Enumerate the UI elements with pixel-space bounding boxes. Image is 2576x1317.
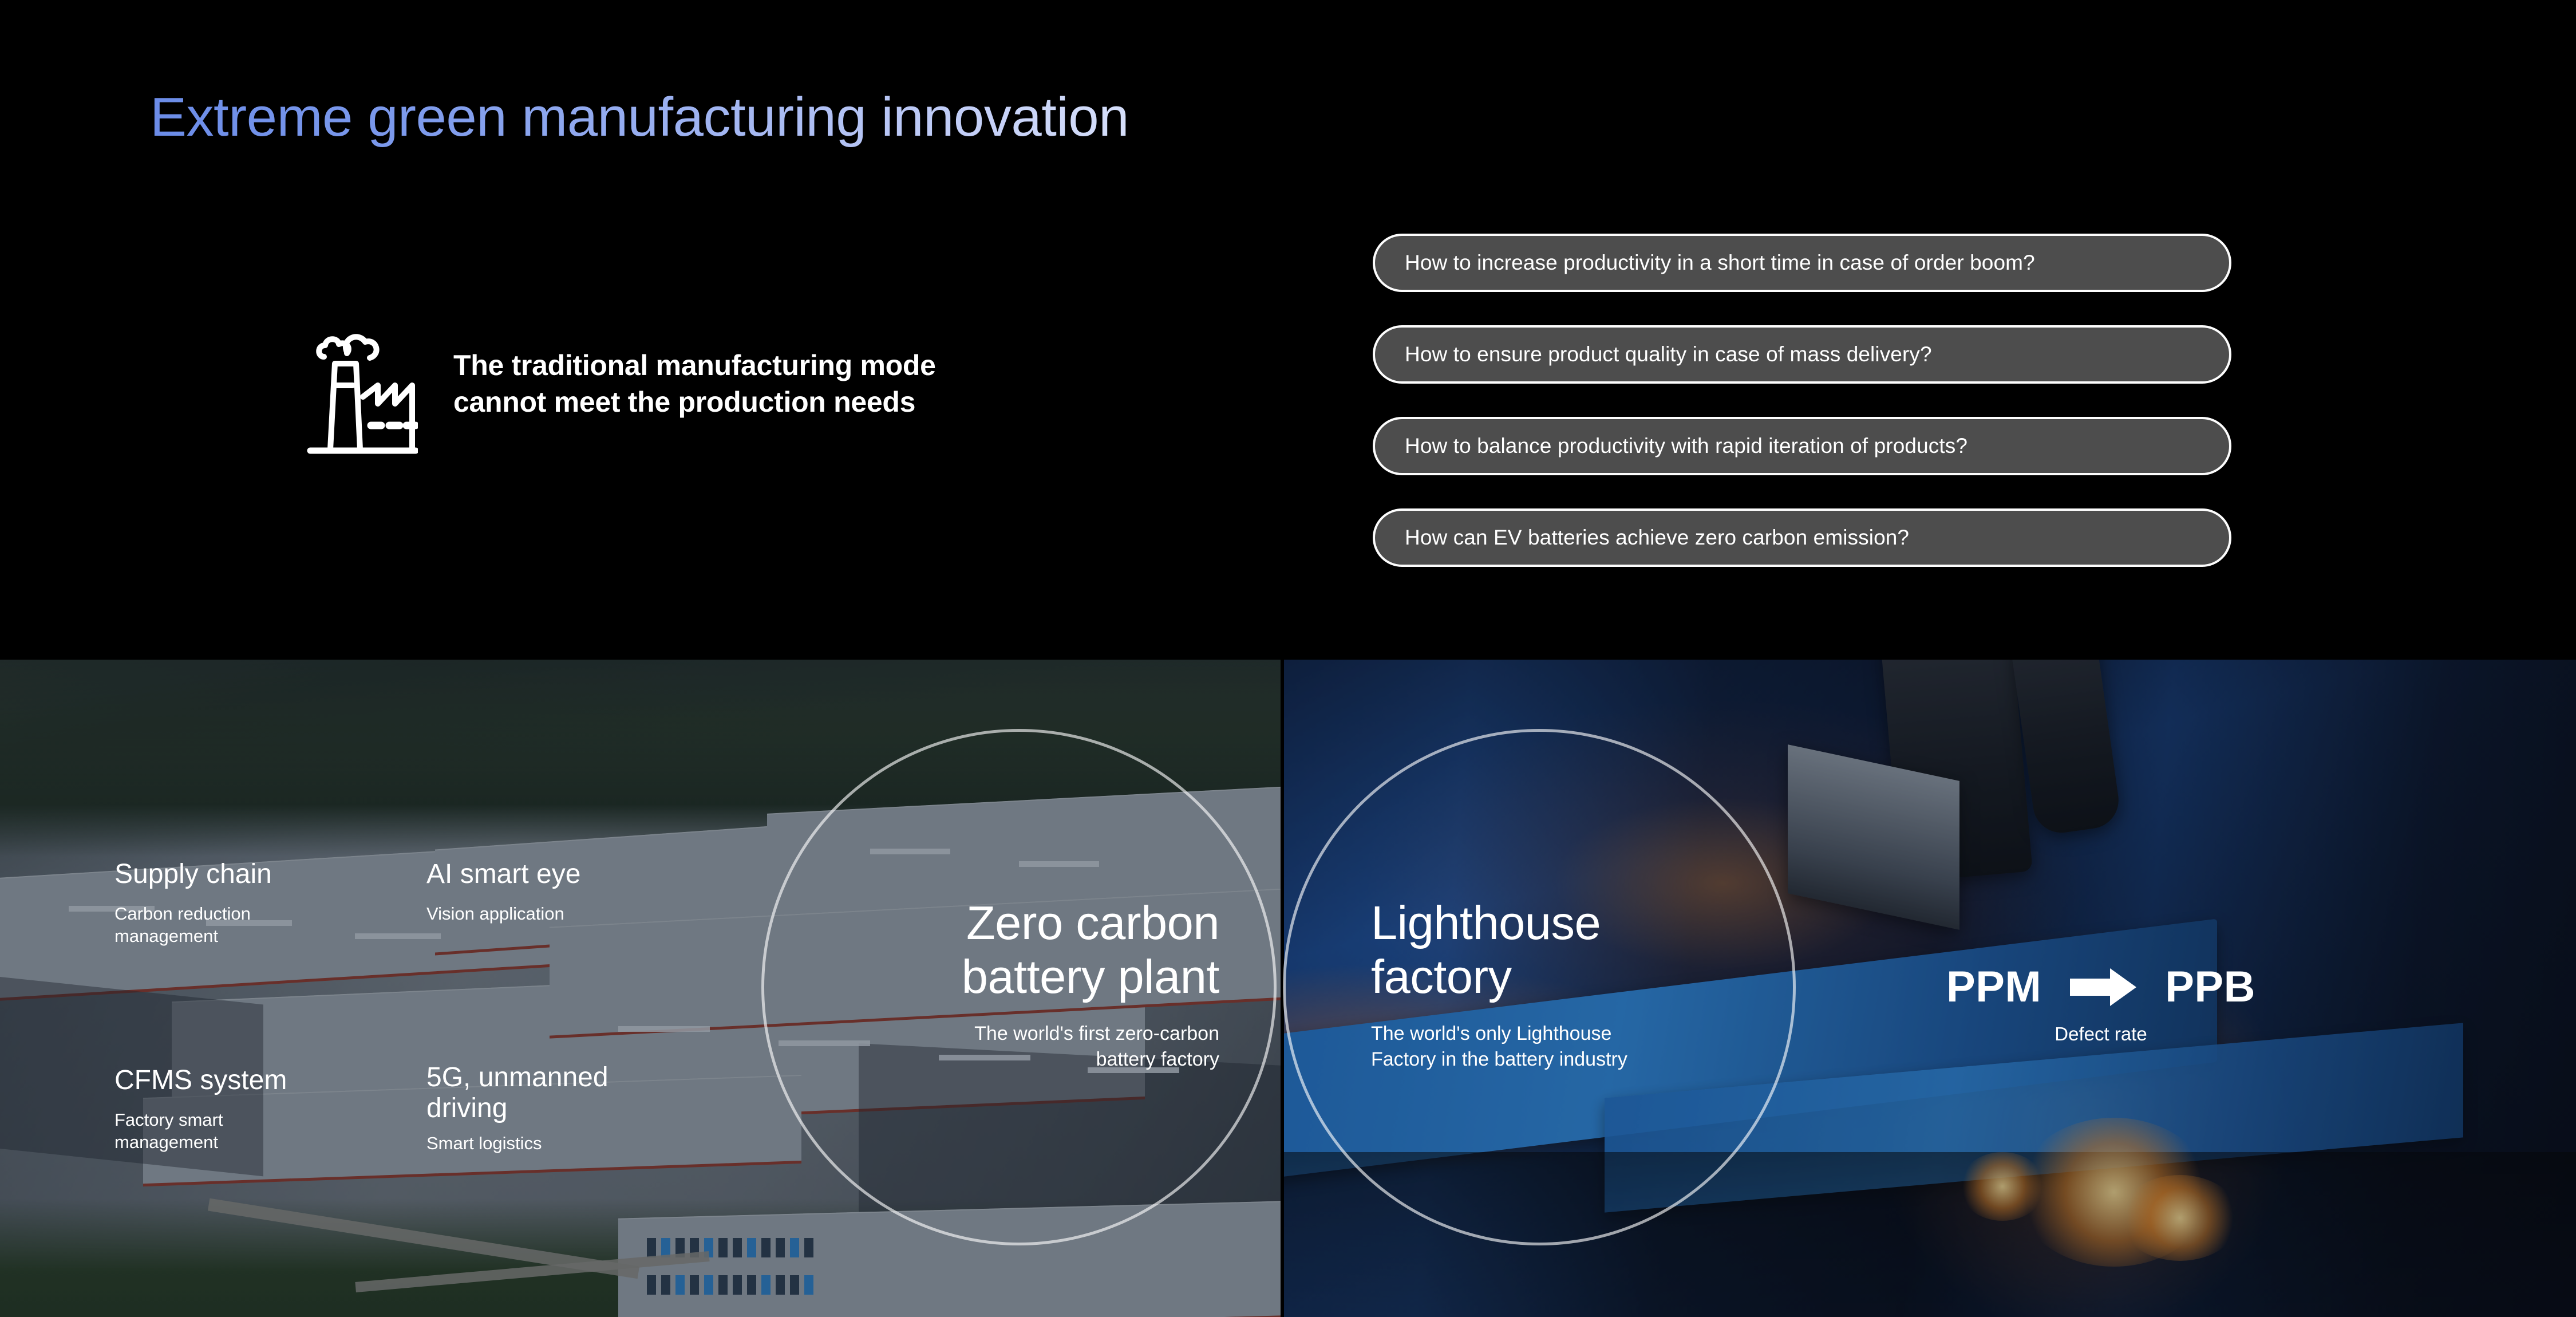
- question-pill-1[interactable]: How to increase productivity in a short …: [1373, 234, 2231, 292]
- lighthouse-title-line-2: factory: [1371, 950, 1806, 1004]
- feature-supply-chain: Supply chain Carbon reductionmanagement: [114, 859, 272, 948]
- feature-cfms-system-sub: Factory smartmanagement: [114, 1109, 287, 1154]
- zero-carbon-title-line-1: Zero carbon: [761, 896, 1219, 950]
- statement-line-1: The traditional manufacturing mode: [453, 347, 936, 384]
- highlight-lighthouse-factory: Lighthouse factory The world's only Ligh…: [1371, 896, 1806, 1073]
- feature-ai-smart-eye: AI smart eye Vision application: [426, 859, 580, 925]
- zero-carbon-subtitle-line-1: The world's first zero-carbon: [761, 1021, 1219, 1047]
- feature-ai-smart-eye-title: AI smart eye: [426, 859, 580, 890]
- question-pill-1-label: How to increase productivity in a short …: [1405, 251, 2035, 275]
- statement-text: The traditional manufacturing mode canno…: [453, 347, 936, 420]
- lighthouse-subtitle-line-2: Factory in the battery industry: [1371, 1047, 1806, 1073]
- feature-5g-unmanned-driving-sub: Smart logistics: [426, 1132, 696, 1155]
- ppm-to-ppb-row: PPM PPB: [1946, 962, 2255, 1012]
- arrow-right-icon: [2070, 968, 2136, 1006]
- feature-cfms-system: CFMS system Factory smartmanagement: [114, 1065, 287, 1154]
- defect-rate-metric: PPM PPB Defect rate: [1946, 962, 2255, 1045]
- lighthouse-subtitle: The world's only Lighthouse Factory in t…: [1371, 1021, 1806, 1074]
- zero-carbon-subtitle-line-2: battery factory: [761, 1047, 1219, 1073]
- question-pill-2[interactable]: How to ensure product quality in case of…: [1373, 325, 2231, 384]
- feature-supply-chain-sub: Carbon reductionmanagement: [114, 902, 272, 948]
- question-pill-4-label: How can EV batteries achieve zero carbon…: [1405, 526, 1909, 550]
- question-pill-list: How to increase productivity in a short …: [1373, 234, 2231, 567]
- highlight-zero-carbon-battery-plant: Zero carbon battery plant The world's fi…: [761, 896, 1219, 1073]
- question-pill-4[interactable]: How can EV batteries achieve zero carbon…: [1373, 508, 2231, 567]
- zero-carbon-title-line-2: battery plant: [761, 950, 1219, 1004]
- lighthouse-subtitle-line-1: The world's only Lighthouse: [1371, 1021, 1806, 1047]
- metric-caption: Defect rate: [2055, 1023, 2147, 1045]
- lighthouse-title-line-1: Lighthouse: [1371, 896, 1806, 950]
- metric-to-label: PPB: [2165, 962, 2255, 1012]
- metric-from-label: PPM: [1946, 962, 2041, 1012]
- feature-ai-smart-eye-sub: Vision application: [426, 902, 580, 925]
- question-pill-3[interactable]: How to balance productivity with rapid i…: [1373, 417, 2231, 475]
- zero-carbon-subtitle: The world's first zero-carbon battery fa…: [761, 1021, 1219, 1074]
- feature-cfms-system-title: CFMS system: [114, 1065, 287, 1096]
- traditional-mode-statement: The traditional manufacturing mode canno…: [303, 312, 936, 455]
- question-pill-2-label: How to ensure product quality in case of…: [1405, 342, 1932, 366]
- feature-5g-unmanned-driving-title: 5G, unmanned driving: [426, 1062, 696, 1124]
- question-pill-3-label: How to balance productivity with rapid i…: [1405, 434, 1967, 458]
- statement-line-2: cannot meet the production needs: [453, 384, 936, 420]
- top-black-panel: Extreme green manufacturing innovation T…: [0, 0, 2576, 660]
- feature-5g-unmanned-driving: 5G, unmanned driving Smart logistics: [426, 1062, 696, 1154]
- page-title: Extreme green manufacturing innovation: [150, 86, 1129, 149]
- feature-supply-chain-title: Supply chain: [114, 859, 272, 890]
- factory-icon: [303, 312, 418, 455]
